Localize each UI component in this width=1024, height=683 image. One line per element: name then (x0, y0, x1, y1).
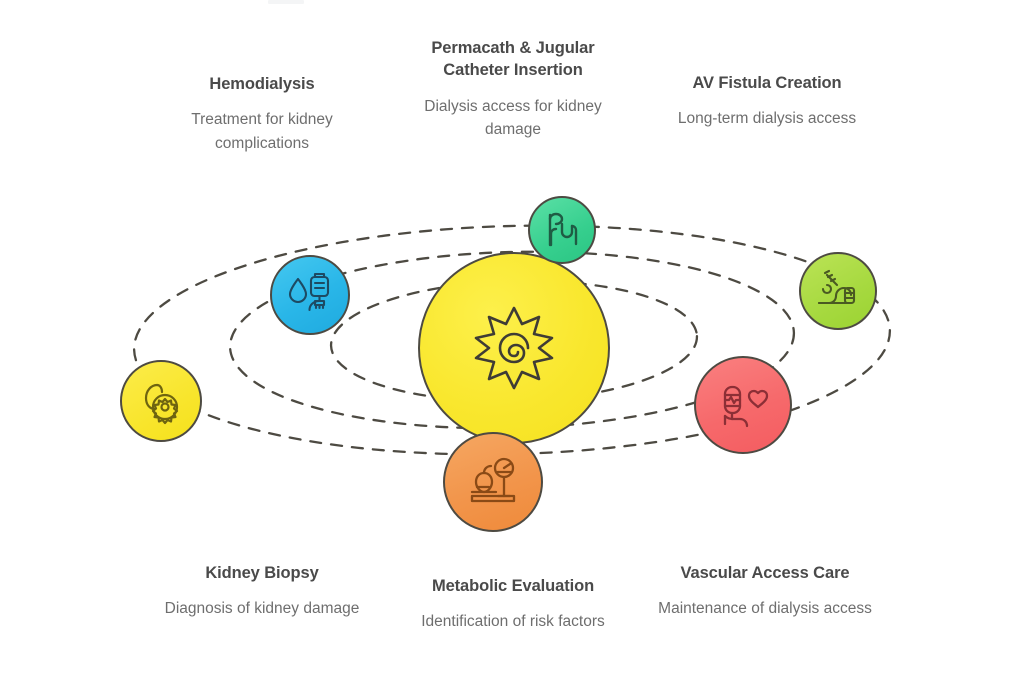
label-hemodialysis: Hemodialysis Treatment for kidney compli… (147, 73, 377, 155)
node-vascular-access-care[interactable] (694, 356, 792, 454)
label-title-vascular-access-care: Vascular Access Care (650, 562, 880, 584)
label-desc-hemodialysis: Treatment for kidney complications (147, 108, 377, 155)
node-metabolic-evaluation[interactable] (443, 432, 543, 532)
label-desc-av-fistula: Long-term dialysis access (652, 107, 882, 130)
label-metabolic-evaluation: Metabolic Evaluation Identification of r… (398, 575, 628, 634)
node-hemodialysis[interactable] (270, 255, 350, 335)
hand-fistula-icon (814, 267, 862, 315)
label-permacath: Permacath & Jugular Catheter Insertion D… (398, 37, 628, 141)
kidney-magnifier-icon (136, 376, 186, 426)
label-av-fistula: AV Fistula Creation Long-term dialysis a… (652, 72, 882, 131)
label-desc-vascular-access-care: Maintenance of dialysis access (650, 597, 880, 620)
label-title-metabolic-evaluation: Metabolic Evaluation (398, 575, 628, 597)
node-permacath[interactable] (528, 196, 596, 264)
center-hub-node[interactable] (418, 252, 610, 444)
label-kidney-biopsy: Kidney Biopsy Diagnosis of kidney damage (147, 562, 377, 621)
apple-scale-icon (462, 451, 524, 513)
arm-heart-icon (713, 375, 773, 435)
label-title-permacath: Permacath & Jugular Catheter Insertion (398, 37, 628, 82)
label-title-av-fistula: AV Fistula Creation (652, 72, 882, 94)
node-avfistula[interactable] (799, 252, 877, 330)
dialysis-bag-icon (285, 270, 335, 320)
label-title-kidney-biopsy: Kidney Biopsy (147, 562, 377, 584)
label-title-hemodialysis: Hemodialysis (147, 73, 377, 95)
label-desc-permacath: Dialysis access for kidney damage (398, 95, 628, 142)
label-desc-kidney-biopsy: Diagnosis of kidney damage (147, 597, 377, 620)
catheter-tube-icon (541, 209, 583, 251)
sun-spiral-icon (466, 300, 562, 396)
label-desc-metabolic-evaluation: Identification of risk factors (398, 610, 628, 633)
node-kidney-biopsy[interactable] (120, 360, 202, 442)
label-vascular-access-care: Vascular Access Care Maintenance of dial… (650, 562, 880, 621)
diagram-canvas: Hemodialysis Treatment for kidney compli… (0, 0, 1024, 683)
